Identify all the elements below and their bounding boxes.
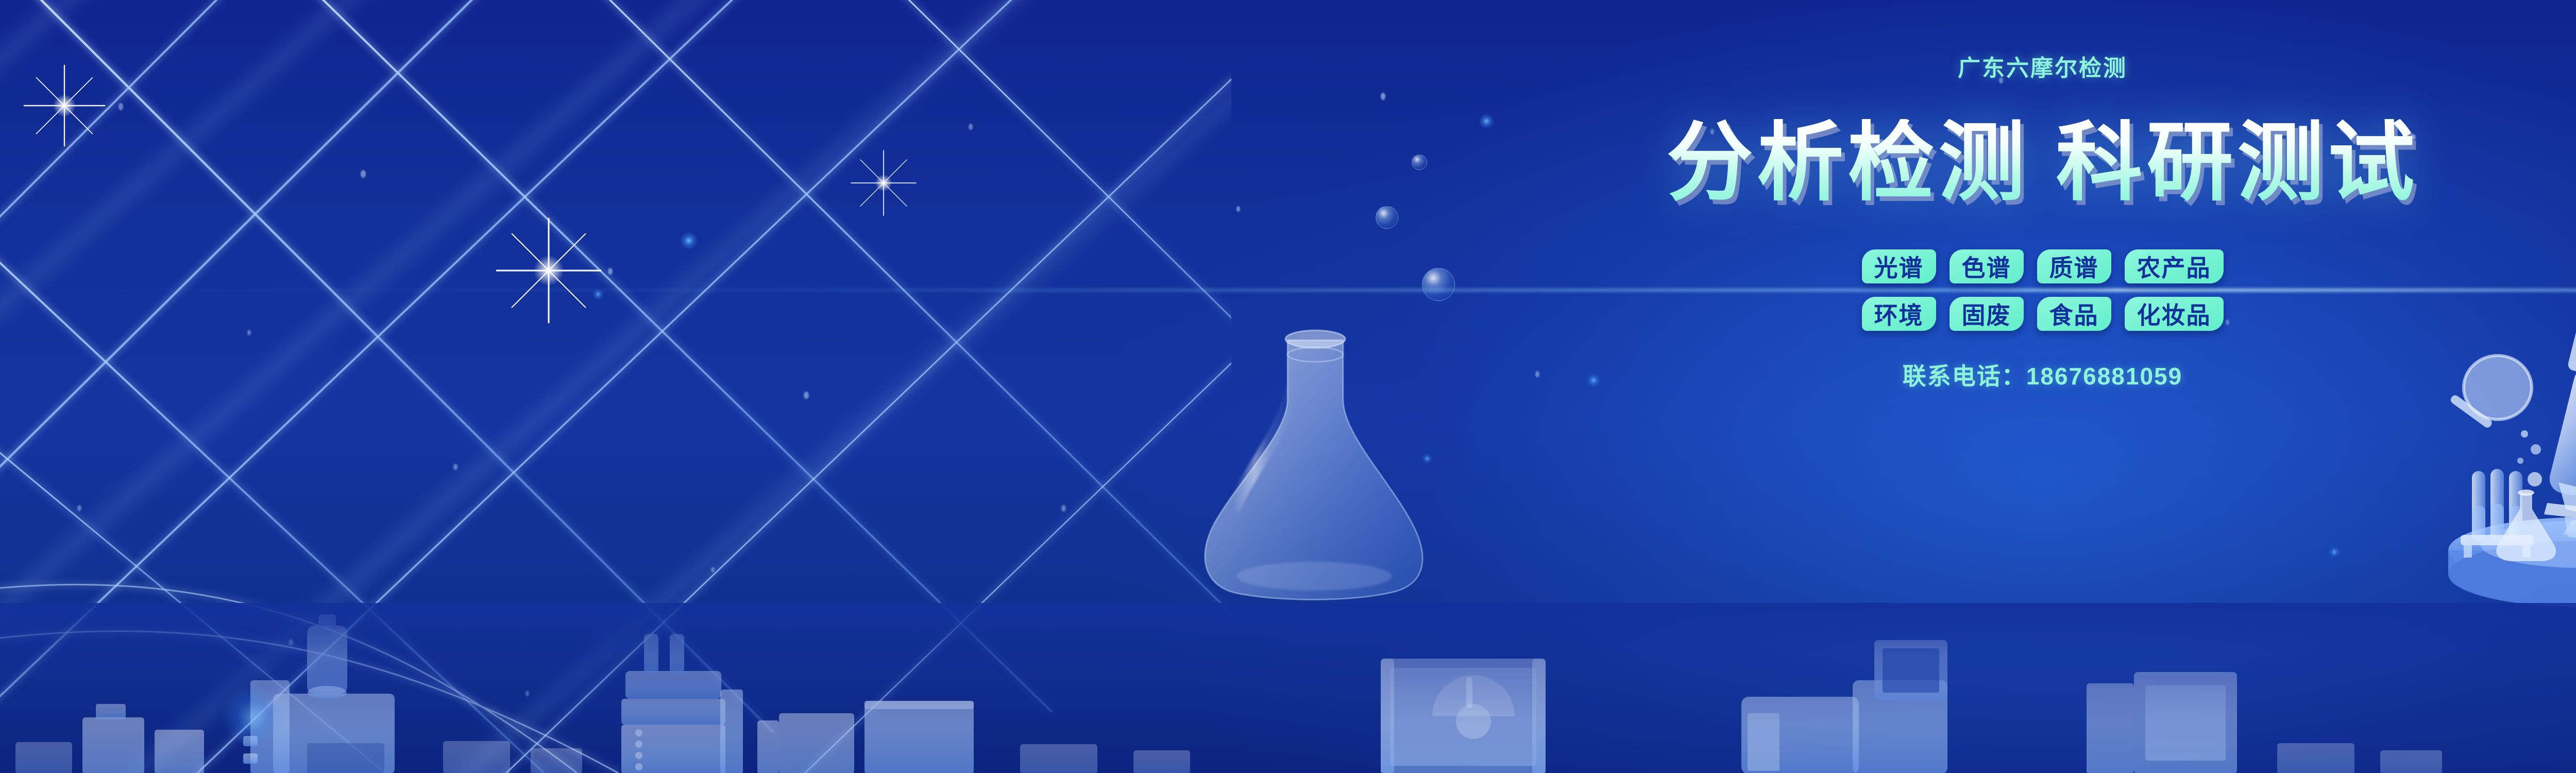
headline-part1: 分析检测: [1667, 114, 2029, 211]
promo-banner: 广东六摩尔检测 分析检测科研测试 光谱 色谱 质谱 农产品 环境 固废 食品 化…: [0, 0, 2576, 773]
tag-nongchanpin[interactable]: 农产品: [2125, 249, 2224, 283]
tag-zhipu[interactable]: 质谱: [2037, 249, 2111, 283]
banner-content: 广东六摩尔检测 分析检测科研测试 光谱 色谱 质谱 农产品 环境 固废 食品 化…: [0, 0, 2576, 773]
tag-guangpu[interactable]: 光谱: [1862, 249, 1936, 283]
tag-huazhuangpin[interactable]: 化妆品: [2125, 297, 2224, 331]
tag-gufei[interactable]: 固废: [1950, 297, 2024, 331]
company-name: 广东六摩尔检测: [1958, 49, 2127, 82]
headline-wrapper: 分析检测科研测试: [1667, 98, 2419, 227]
service-tag-row-1: 光谱 色谱 质谱 农产品: [1862, 249, 2224, 283]
service-tag-row-2: 环境 固废 食品 化妆品: [1862, 297, 2224, 331]
tag-sepu[interactable]: 色谱: [1950, 249, 2024, 283]
tag-huanjing[interactable]: 环境: [1862, 297, 1936, 331]
headline: 分析检测科研测试: [1667, 119, 2419, 206]
headline-part2: 科研测试: [2056, 114, 2419, 211]
contact-phone[interactable]: 联系电话：18676881059: [1903, 358, 2182, 392]
tag-shipin[interactable]: 食品: [2037, 297, 2111, 331]
service-tags: 光谱 色谱 质谱 农产品 环境 固废 食品 化妆品: [1862, 249, 2224, 331]
